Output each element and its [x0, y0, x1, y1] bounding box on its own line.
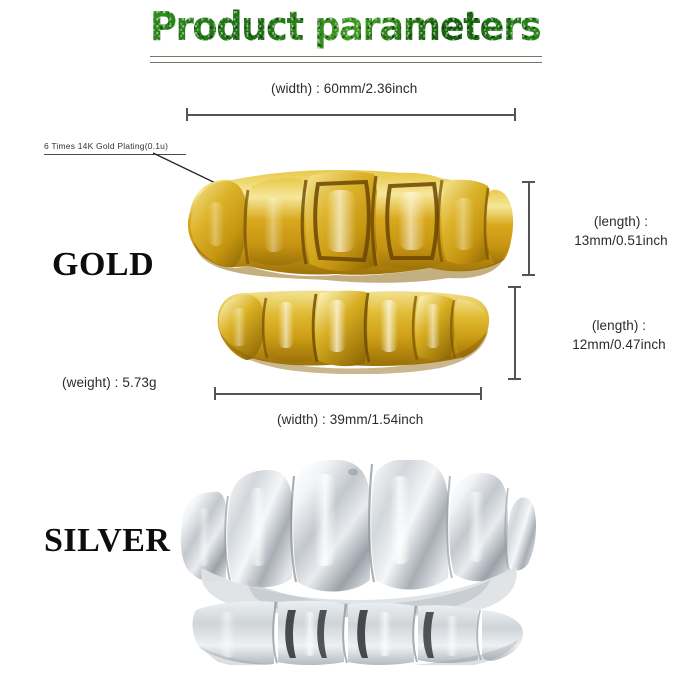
bracket-cap-bottom	[522, 274, 535, 276]
bracket-cap-bottom	[508, 378, 521, 380]
page-title: Product parameters	[150, 4, 540, 50]
top-length-line-2: 13mm/0.51inch	[574, 233, 668, 248]
top-width-label: (width) : 60mm/2.36inch	[271, 81, 417, 96]
bottom-length-line-2: 12mm/0.47inch	[572, 337, 666, 352]
bracket-bar	[186, 114, 516, 116]
material-label-gold: GOLD	[52, 246, 154, 284]
top-width-bracket	[186, 108, 516, 121]
bottom-length-line-1: (length) :	[592, 318, 646, 333]
weight-label: (weight) : 5.73g	[62, 375, 157, 390]
bottom-length-label: (length) : 12mm/0.47inch	[556, 316, 682, 354]
bracket-bar	[514, 286, 516, 380]
top-length-bracket	[522, 181, 535, 276]
plating-annotation-text: 6 Times 14K Gold Plating(0.1u)	[44, 141, 168, 151]
bottom-width-label: (width) : 39mm/1.54inch	[277, 412, 423, 427]
bracket-cap-right	[514, 108, 516, 121]
bracket-bar	[528, 181, 530, 276]
page-title-block: Product parameters	[0, 4, 690, 50]
silver-grill-image	[178, 460, 538, 665]
material-label-silver: SILVER	[44, 522, 170, 560]
product-parameters-page: Product parameters (width) : 60mm/2.36in…	[0, 0, 690, 690]
top-length-line-1: (length) :	[594, 214, 648, 229]
title-divider-top	[150, 56, 542, 57]
gold-bottom-grill-image	[216, 290, 492, 374]
bottom-width-bracket	[214, 387, 482, 400]
gold-top-grill-image	[186, 168, 516, 286]
top-length-label: (length) : 13mm/0.51inch	[560, 212, 682, 250]
bracket-cap-right	[480, 387, 482, 400]
bottom-length-bracket	[508, 286, 521, 380]
bracket-bar	[214, 393, 482, 395]
title-divider-bottom	[150, 62, 542, 63]
plating-annotation-underline	[44, 154, 186, 155]
